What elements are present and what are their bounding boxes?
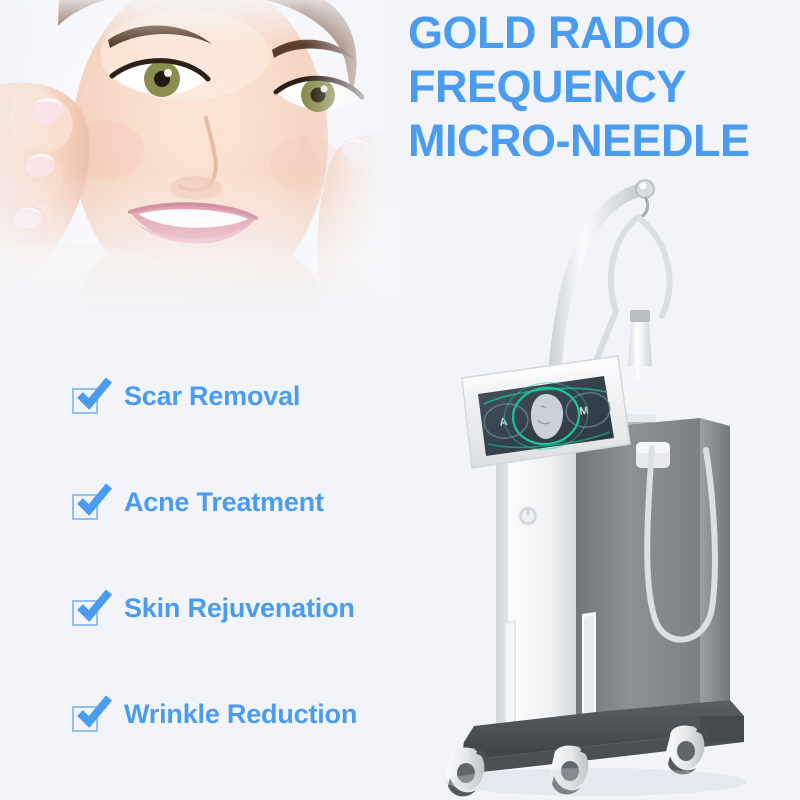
list-item: Acne Treatment <box>72 492 442 598</box>
check-icon <box>75 588 113 626</box>
check-icon <box>75 482 113 520</box>
hero-photo-illustration <box>0 0 400 330</box>
product-poster: GOLD RADIO FREQUENCY MICRO-NEEDLE Scar R… <box>0 0 800 800</box>
hero-photo <box>0 0 400 330</box>
feature-label-scar-removal: Scar Removal <box>124 381 300 412</box>
list-item: Scar Removal <box>72 386 442 492</box>
feature-list: Scar Removal Acne Treatment Skin Rejuven… <box>72 386 442 800</box>
power-button[interactable] <box>518 506 538 526</box>
list-item: Skin Rejuvenation <box>72 598 442 704</box>
headline-line-2: FREQUENCY <box>408 60 800 114</box>
check-icon <box>75 376 113 414</box>
page-title: GOLD RADIO FREQUENCY MICRO-NEEDLE <box>408 6 800 168</box>
product-machine-image: A M <box>400 170 800 800</box>
feature-label-skin-rejuvenation: Skin Rejuvenation <box>124 593 355 624</box>
check-icon <box>75 694 113 732</box>
feature-label-acne-treatment: Acne Treatment <box>124 487 324 518</box>
arm-knob <box>636 180 654 198</box>
handpiece-cable <box>611 217 670 316</box>
feature-label-wrinkle-reduction: Wrinkle Reduction <box>124 699 357 730</box>
headline-line-1: GOLD RADIO <box>408 6 800 60</box>
caster-wheel-right <box>667 725 709 774</box>
headline-line-3: MICRO-NEEDLE <box>408 114 800 168</box>
list-item: Wrinkle Reduction <box>72 704 442 800</box>
machine-illustration: A M <box>400 170 800 800</box>
